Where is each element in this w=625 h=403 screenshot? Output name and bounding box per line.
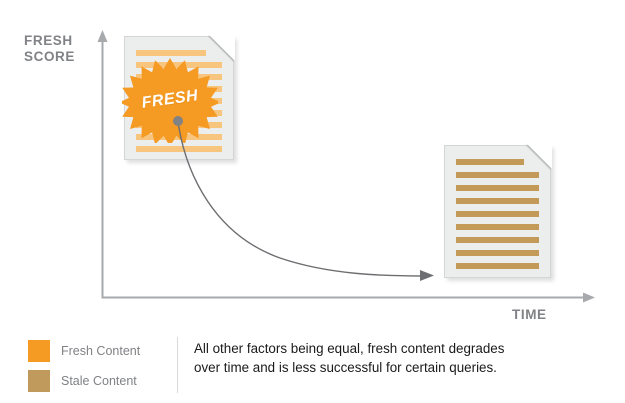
caption-line-1: All other factors being equal, fresh con… xyxy=(194,339,594,358)
legend-label-stale: Stale Content xyxy=(61,374,137,388)
caption-line-2: over time and is less successful for cer… xyxy=(194,358,594,377)
legend-swatch-stale xyxy=(28,370,50,392)
legend-item-stale: Stale Content xyxy=(28,366,168,396)
y-axis-label-line1: FRESH xyxy=(24,33,73,48)
legend-swatch-fresh xyxy=(28,340,50,362)
fresh-badge: FRESH xyxy=(122,57,218,143)
x-axis-label: TIME xyxy=(512,307,547,323)
legend-label-fresh: Fresh Content xyxy=(61,344,140,358)
legend: Fresh Content Stale Content xyxy=(28,336,168,396)
y-axis-label-line2: SCORE xyxy=(24,49,75,64)
curve-arrowhead xyxy=(420,270,434,281)
legend-item-fresh: Fresh Content xyxy=(28,336,168,366)
legend-caption-divider xyxy=(177,337,178,393)
fresh-badge-label: FRESH xyxy=(116,51,223,150)
stale-document-icon xyxy=(444,145,551,278)
y-axis-label: FRESHSCORE xyxy=(24,33,75,65)
stale-document-fold-corner xyxy=(527,144,552,169)
freshness-decay-diagram: FRESHSCORE TIME FRESH xyxy=(0,0,625,403)
caption: All other factors being equal, fresh con… xyxy=(194,339,594,377)
